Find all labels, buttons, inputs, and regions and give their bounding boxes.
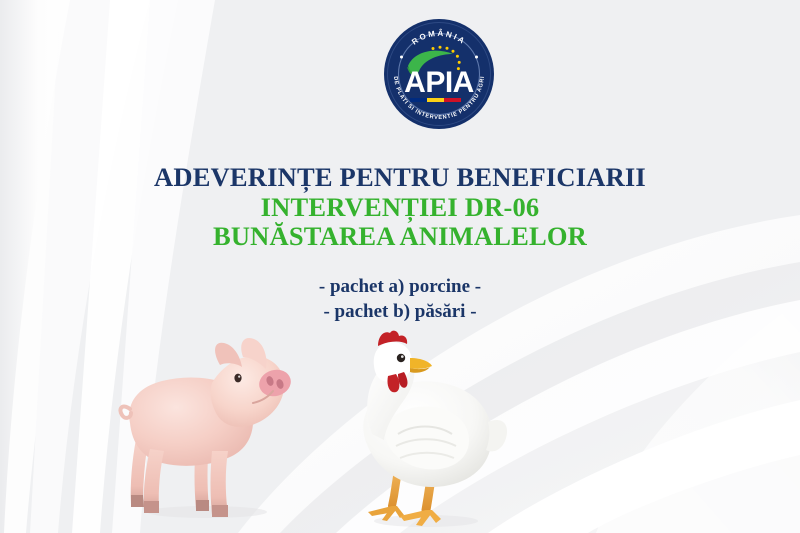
packet-line-a: - pachet a) porcine -: [0, 274, 800, 299]
pig-hoof-front-near: [212, 505, 228, 517]
chicken-illustration: [338, 330, 510, 530]
pig-eye-highlight: [238, 376, 240, 378]
apia-announcement-banner: ROMÂNIA AGENTIA DE PLATI SI INTERVENTIE …: [0, 0, 800, 533]
pig-hoof-rear-near: [144, 501, 159, 513]
chicken-eye-highlight: [401, 355, 404, 358]
chicken-beak: [410, 358, 432, 369]
apia-logo: ROMÂNIA AGENTIA DE PLATI SI INTERVENTIE …: [383, 18, 495, 130]
pig-eye: [234, 374, 241, 383]
chicken-eye: [397, 354, 405, 362]
pig-ear-far: [215, 343, 242, 367]
headline-block: ADEVERINȚE PENTRU BENEFICIARII INTERVENȚ…: [0, 163, 800, 252]
headline-line-3: BUNĂSTAREA ANIMALELOR: [0, 222, 800, 252]
headline-line-1: ADEVERINȚE PENTRU BENEFICIARII: [0, 163, 800, 193]
packet-list: - pachet a) porcine - - pachet b) păsări…: [0, 274, 800, 324]
romania-flag-bar: [410, 98, 461, 102]
headline-line-2: INTERVENȚIEI DR-06: [0, 193, 800, 223]
packet-line-b: - pachet b) păsări -: [0, 299, 800, 324]
pig-hoof-rear-far: [131, 495, 144, 507]
pig-hoof-front-far: [196, 500, 209, 511]
piglet-illustration: [112, 331, 304, 521]
logo-acronym: APIA: [404, 66, 474, 99]
pig-tail: [120, 407, 131, 418]
